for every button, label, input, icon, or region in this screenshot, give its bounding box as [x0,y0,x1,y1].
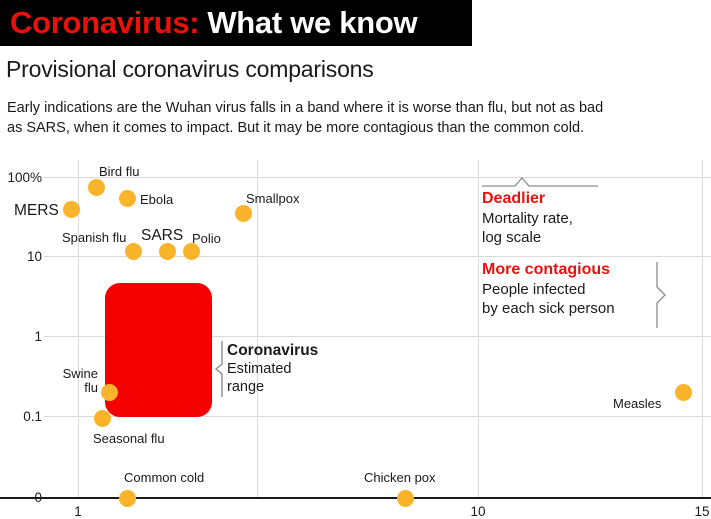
annotation-deadlier-head: Deadlier [482,189,573,209]
y-tick-label: 0 [34,490,42,505]
data-point-mers[interactable] [63,201,80,218]
data-point-common-cold[interactable] [119,490,136,507]
data-label-chicken-pox: Chicken pox [364,471,436,485]
y-tick-1: 1 [0,329,42,343]
data-point-measles[interactable] [675,384,692,401]
coronavirus-band [105,283,212,417]
scatter-plot: 100% 10 1 0.1 0 1 10 15 Coronavirus Esti… [0,160,711,516]
chart-standfirst: Early indications are the Wuhan virus fa… [7,98,707,138]
annotation-deadlier: Deadlier Mortality rate, log scale [482,189,573,247]
data-point-sars[interactable] [159,243,176,260]
y-tick-label: 10 [27,249,42,264]
header-banner: Coronavirus: What we know [0,0,472,46]
x-tick-1: 1 [64,504,92,519]
annotation-deadlier-line-2: log scale [482,228,573,247]
coronavirus-callout: Coronavirus Estimated range [227,342,318,396]
x-tick-15: 15 [688,504,711,519]
data-label-seasonal-flu: Seasonal flu [93,432,165,446]
gridline-y-100 [44,177,711,178]
standfirst-line-2: as SARS, when it comes to impact. But it… [7,118,707,138]
y-tick-100: 100% [0,170,42,184]
data-label-polio: Polio [192,232,221,246]
data-point-ebola[interactable] [119,190,136,207]
data-label-common-cold: Common cold [124,471,204,485]
swine-flu-label-line-2: flu [52,381,98,395]
data-label-smallpox: Smallpox [246,192,299,206]
data-point-smallpox[interactable] [235,205,252,222]
deadlier-arrow-icon [482,176,598,188]
coronavirus-callout-line-2: range [227,378,318,396]
more-contagious-arrow-icon [655,262,667,328]
gridline-x-5 [257,160,258,498]
x-axis-line [0,497,711,499]
data-point-spanish-flu[interactable] [125,243,142,260]
coronavirus-callout-line-1: Estimated [227,360,318,378]
x-tick-10: 10 [464,504,492,519]
data-point-swine-flu[interactable] [101,384,118,401]
annotation-more-contagious: More contagious People infected by each … [482,260,615,318]
y-tick-label: 100% [7,170,42,185]
coronavirus-bracket-icon [214,340,224,398]
y-tick-label: 1 [34,329,42,344]
y-tick-0: 0 [0,490,42,504]
annotation-more-contagious-head: More contagious [482,260,615,280]
data-point-chicken-pox[interactable] [397,490,414,507]
header-kicker: Coronavirus: [10,5,199,41]
data-label-bird-flu: Bird flu [99,165,139,179]
data-label-sars: SARS [141,229,183,243]
gridline-x-10 [478,160,479,498]
gridline-y-10 [44,256,711,257]
data-label-measles: Measles [613,397,661,411]
data-label-ebola: Ebola [140,193,173,207]
data-label-mers: MERS [14,204,59,218]
data-point-seasonal-flu[interactable] [94,410,111,427]
page-title: Provisional coronavirus comparisons [6,56,374,83]
data-label-spanish-flu: Spanish flu [62,231,126,245]
y-tick-0.1: 0.1 [0,409,42,423]
gridline-x-15 [702,160,703,498]
standfirst-line-1: Early indications are the Wuhan virus fa… [7,98,707,118]
swine-flu-label-line-1: Swine [52,367,98,381]
data-point-bird-flu[interactable] [88,179,105,196]
y-tick-label: 0.1 [23,409,42,424]
y-tick-10: 10 [0,249,42,263]
coronavirus-callout-title: Coronavirus [227,342,318,360]
data-label-swine-flu: Swine flu [52,367,98,395]
annotation-more-contagious-line-2: by each sick person [482,299,615,318]
header-headline: What we know [207,5,417,41]
annotation-deadlier-line-1: Mortality rate, [482,209,573,228]
annotation-more-contagious-line-1: People infected [482,280,615,299]
